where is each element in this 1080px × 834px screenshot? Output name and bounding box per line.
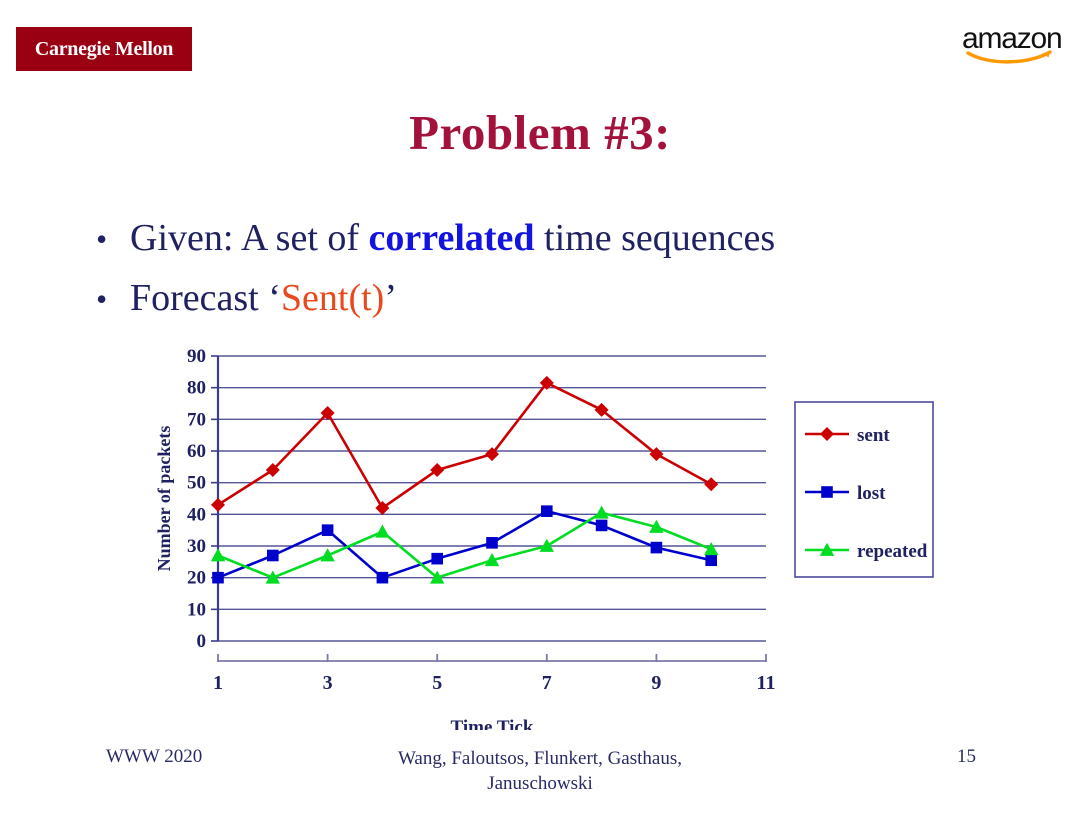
svg-text:7: 7	[542, 672, 552, 694]
bullet-given-part-1: Given: A set of	[130, 217, 369, 259]
svg-text:60: 60	[187, 441, 206, 462]
bullet-text-forecast: Forecast ‘Sent(t)’	[130, 276, 397, 320]
svg-text:20: 20	[187, 568, 206, 589]
bullet-marker: •	[96, 223, 130, 255]
svg-text:repeated: repeated	[857, 541, 928, 562]
bullet-given-highlight-correlated: correlated	[369, 217, 535, 259]
svg-text:40: 40	[187, 504, 206, 525]
bullet-forecast-part-1: Forecast ‘	[130, 277, 281, 319]
svg-text:3: 3	[323, 672, 333, 694]
footer-authors-line2: Januschowski	[300, 771, 780, 796]
footer-authors-line1: Wang, Faloutsos, Flunkert, Gasthaus,	[300, 746, 780, 771]
bullet-list: • Given: A set of correlated time sequen…	[96, 216, 996, 336]
chart-gridlines	[211, 356, 766, 641]
amazon-wordmark: amazon	[962, 24, 1058, 54]
chart-x-tick-labels: 1357911	[213, 672, 775, 694]
carnegie-mellon-wordmark: Carnegie Mellon	[35, 38, 173, 61]
amazon-logo: amazon	[962, 24, 1058, 70]
bullet-given-part-3: time sequences	[535, 217, 776, 259]
bullet-text-given: Given: A set of correlated time sequence…	[130, 216, 775, 260]
svg-text:11: 11	[757, 672, 776, 694]
svg-text:80: 80	[187, 378, 206, 399]
svg-text:Time Tick: Time Tick	[451, 717, 534, 730]
chart-y-tick-labels: 0102030405060708090	[187, 346, 206, 652]
chart-legend: sentlostrepeated	[795, 402, 933, 577]
chart-series-layer	[211, 376, 719, 584]
footer-conference: WWW 2020	[106, 746, 202, 768]
bullet-forecast-part-3: ’	[384, 277, 397, 319]
carnegie-mellon-logo: Carnegie Mellon	[16, 27, 192, 71]
bullet-item-forecast: • Forecast ‘Sent(t)’	[96, 276, 996, 320]
footer-authors: Wang, Faloutsos, Flunkert, Gasthaus, Jan…	[300, 746, 780, 796]
svg-text:lost: lost	[857, 483, 886, 504]
svg-text:10: 10	[187, 599, 206, 620]
chart-svg: 0102030405060708090 1357911 Time TickNum…	[150, 340, 950, 730]
slide-footer: WWW 2020 Wang, Faloutsos, Flunkert, Gast…	[0, 742, 1080, 812]
line-chart: 0102030405060708090 1357911 Time TickNum…	[150, 340, 950, 730]
svg-text:5: 5	[432, 672, 442, 694]
svg-text:Number of packets: Number of packets	[154, 426, 174, 572]
svg-text:90: 90	[187, 346, 206, 367]
svg-text:sent: sent	[857, 425, 890, 446]
svg-text:1: 1	[213, 672, 223, 694]
svg-text:70: 70	[187, 409, 206, 430]
svg-text:9: 9	[651, 672, 661, 694]
svg-text:30: 30	[187, 536, 206, 557]
page-title: Problem #3:	[0, 104, 1080, 161]
bullet-marker: •	[96, 283, 130, 315]
bullet-item-given: • Given: A set of correlated time sequen…	[96, 216, 996, 260]
chart-x-axis	[218, 654, 766, 662]
bullet-forecast-highlight-sent: Sent(t)	[281, 277, 384, 319]
svg-text:0: 0	[197, 631, 207, 652]
svg-text:50: 50	[187, 473, 206, 494]
footer-page-number: 15	[957, 746, 976, 768]
